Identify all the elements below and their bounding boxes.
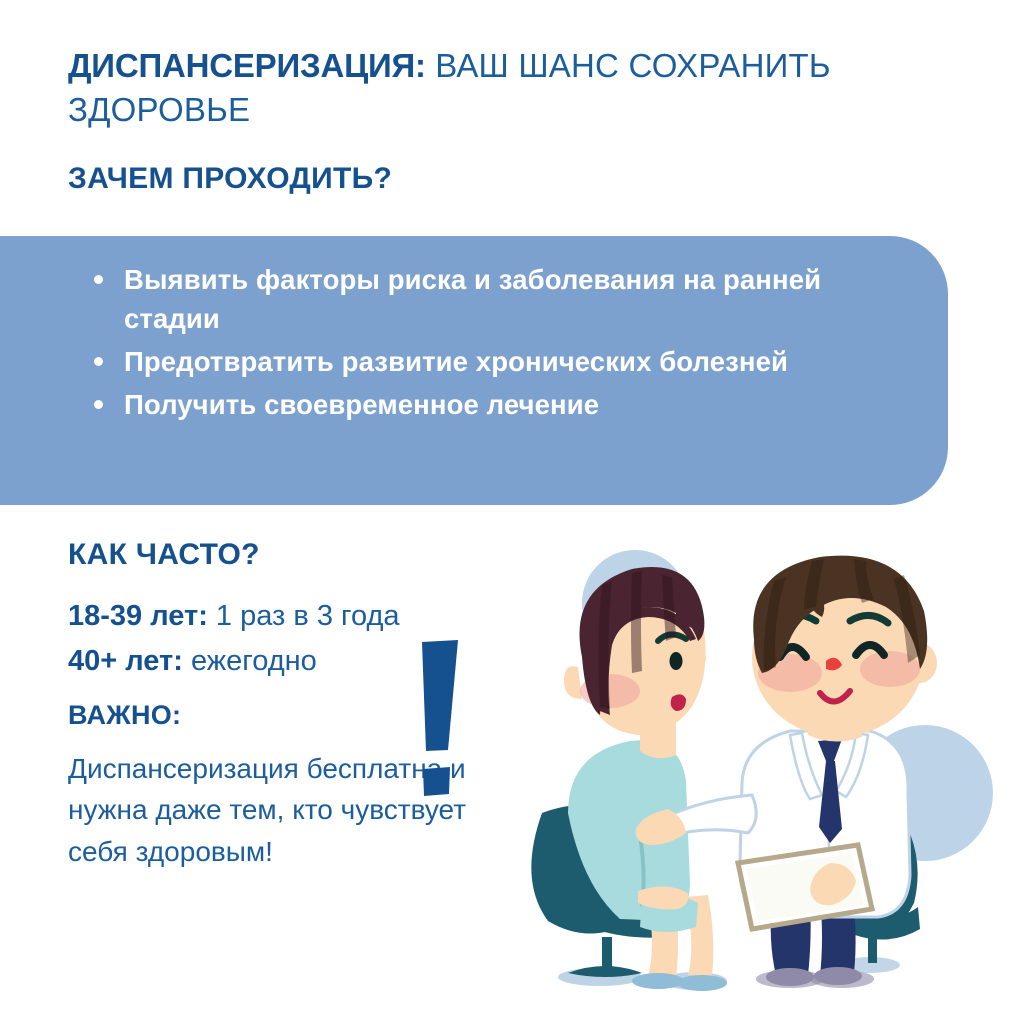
list-item: Предотвратить развитие хронических болез… — [90, 342, 900, 381]
frequency-label: 18-39 лет: — [68, 600, 208, 632]
page-title: ДИСПАНСЕРИЗАЦИЯ: ВАШ ШАНС СОХРАНИТЬ ЗДОР… — [68, 44, 928, 132]
list-item-label: Выявить факторы риска и заболевания на р… — [124, 264, 821, 334]
section-title-why: ЗАЧЕМ ПРОХОДИТЬ? — [68, 162, 392, 196]
frequency-label: 40+ лет: — [68, 645, 183, 677]
frequency-row-40-plus: 40+ лет: ежегодно — [68, 645, 317, 678]
list-item-label: Получить своевременное лечение — [124, 389, 599, 420]
benefits-list: Выявить факторы риска и заболевания на р… — [90, 260, 900, 428]
frequency-value: ежегодно — [183, 645, 317, 677]
doctor-patient-illustration — [490, 545, 1010, 1015]
bullet-dot-icon — [94, 275, 103, 284]
important-title: ВАЖНО: — [68, 700, 181, 731]
headline-strong: ДИСПАНСЕРИЗАЦИЯ: — [68, 47, 426, 84]
benefits-panel: Выявить факторы риска и заболевания на р… — [0, 236, 948, 505]
exclamation-mark-icon — [414, 638, 484, 803]
patient-figure — [531, 567, 727, 991]
infographic-poster: ДИСПАНСЕРИЗАЦИЯ: ВАШ ШАНС СОХРАНИТЬ ЗДОР… — [0, 0, 1024, 1024]
section-title-how-often: КАК ЧАСТО? — [68, 538, 260, 572]
list-item: Получить своевременное лечение — [90, 385, 900, 424]
list-item-label: Предотвратить развитие хронических болез… — [124, 346, 788, 377]
bullet-dot-icon — [94, 400, 103, 409]
bullet-dot-icon — [94, 357, 103, 366]
frequency-row-18-39: 18-39 лет: 1 раз в 3 года — [68, 600, 400, 633]
list-item: Выявить факторы риска и заболевания на р… — [90, 260, 900, 338]
frequency-value: 1 раз в 3 года — [208, 600, 400, 632]
